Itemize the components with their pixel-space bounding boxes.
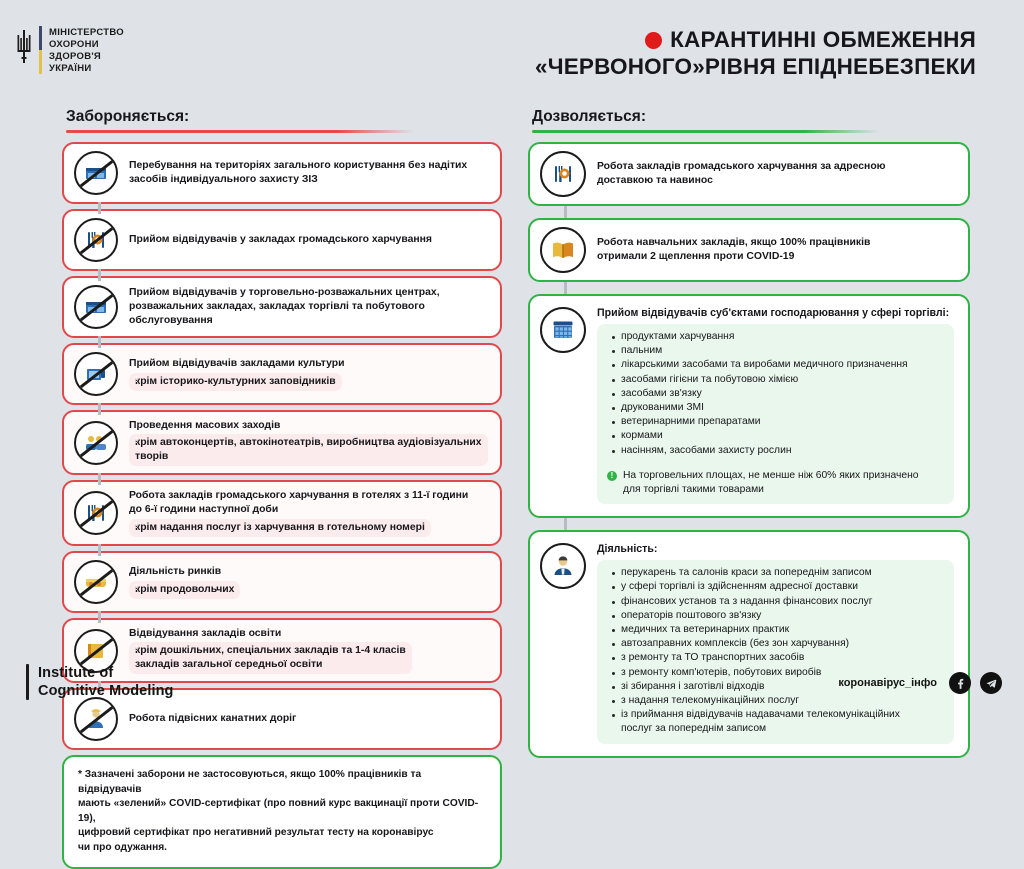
facebook-icon[interactable] — [949, 672, 971, 694]
restaurant-delivery-icon — [550, 161, 576, 187]
card-connector — [98, 544, 101, 556]
prohibition-card: Прийом відвідувачів закладами культурикр… — [62, 343, 502, 405]
icon-badge — [74, 352, 118, 396]
icon-badge — [74, 285, 118, 329]
logo-line-1: МІНІСТЕРСТВО — [49, 27, 124, 39]
exception-text: крім продовольчих — [135, 583, 234, 597]
card-connector — [98, 269, 101, 281]
title-line-2: «ЧЕРВОНОГО»РІВНЯ ЕПІДНЕБЕЗПЕКИ — [535, 53, 976, 80]
prohibition-card: Робота закладів громадського харчування … — [62, 480, 502, 546]
prohibition-text: Прийом відвідувачів у закладах громадськ… — [129, 233, 488, 247]
institute-bar — [26, 664, 29, 700]
info-text: На торговельних площах, не менше ніж 60%… — [623, 469, 919, 497]
logo-line-2: ОХОРОНИ — [49, 39, 124, 51]
icon-badge — [540, 151, 586, 197]
institute-logo: Institute of Cognitive Modeling — [26, 664, 174, 700]
logo-line-3: ЗДОРОВ'Я — [49, 51, 124, 63]
card-connector — [98, 611, 101, 623]
title-text-1: КАРАНТИННІ ОБМЕЖЕННЯ — [670, 27, 976, 52]
list-item: лікарськими засобами та виробами медично… — [621, 358, 944, 372]
prohibited-underline — [66, 130, 414, 133]
card-body: Перебування на територіях загального кор… — [129, 159, 488, 187]
exception-row: крім історико-культурних заповідників — [129, 373, 342, 391]
list-item: медичних та ветеринарних практик — [621, 623, 944, 637]
allowed-heading: Дозволяється: — [532, 108, 970, 126]
card-body: Робота закладів громадського харчування … — [597, 160, 956, 188]
allowed-card: Робота закладів громадського харчування … — [528, 142, 970, 206]
exception-text: крім надання послуг із харчування в готе… — [135, 521, 425, 535]
icon-badge — [540, 307, 586, 353]
card-body: Діяльність ринківкрім продовольчих — [129, 565, 488, 599]
logo-flag-bars — [39, 26, 42, 74]
icon-badge — [74, 491, 118, 535]
list-item: фінансових установ та з надання фінансов… — [621, 595, 944, 609]
exception-row: крім продовольчих — [129, 581, 240, 599]
prohibition-card: Прийом відвідувачів у закладах громадськ… — [62, 209, 502, 271]
prohibition-text: Робота закладів громадського харчування … — [129, 489, 488, 517]
allowed-lead: Прийом відвідувачів суб'єктами господарю… — [597, 306, 954, 320]
institute-name: Institute of Cognitive Modeling — [38, 664, 174, 700]
card-connector — [98, 473, 101, 485]
exception-text: крім історико-культурних заповідників — [135, 375, 336, 389]
ukraine-trident-icon — [16, 26, 32, 70]
card-connector — [564, 206, 567, 218]
list-item: у сфері торгівлі із здійсненням адресної… — [621, 580, 944, 594]
icon-badge — [540, 543, 586, 589]
prohibition-text: Проведення масових заходів — [129, 419, 488, 433]
list-item: операторів поштового зв'язку — [621, 609, 944, 623]
icon-badge — [74, 560, 118, 604]
list-item: ветеринарними препаратами — [621, 415, 944, 429]
list-item: засобами гігієни та побутовою хімією — [621, 373, 944, 387]
footnote-text: * Зазначені заборони не застосовуються, … — [78, 768, 486, 856]
prohibition-text: Перебування на територіях загального кор… — [129, 159, 488, 187]
list-item: перукарень та салонів краси за попередні… — [621, 566, 944, 580]
prohibited-column: Забороняється: Перебування на територіях… — [62, 108, 502, 869]
prohibition-card: Прийом відвідувачів у торговельно-розваж… — [62, 276, 502, 338]
icon-badge — [74, 218, 118, 262]
card-body: Робота навчальних закладів, якщо 100% пр… — [597, 236, 956, 264]
page-title: КАРАНТИННІ ОБМЕЖЕННЯ «ЧЕРВОНОГО»РІВНЯ ЕП… — [535, 26, 976, 80]
institute-line-1: Institute of — [38, 664, 174, 682]
list-item: засобами зв'язку — [621, 387, 944, 401]
card-connector — [98, 403, 101, 415]
prohibition-card: Діяльність ринківкрім продовольчих — [62, 551, 502, 613]
title-line-1: КАРАНТИННІ ОБМЕЖЕННЯ — [535, 26, 976, 53]
social-label: коронавірус_інфо — [838, 677, 937, 689]
prohibition-card: Проведення масових заходівкрім автоконце… — [62, 410, 502, 475]
allowed-card: Прийом відвідувачів суб'єктами господарю… — [528, 294, 970, 518]
card-body: Прийом відвідувачів суб'єктами господарю… — [597, 306, 954, 504]
card-body: Проведення масових заходівкрім автоконце… — [129, 419, 488, 466]
allowed-text: Робота навчальних закладів, якщо 100% пр… — [597, 236, 956, 264]
page-header: МІНІСТЕРСТВО ОХОРОНИ ЗДОРОВ'Я УКРАЇНИ КА… — [0, 0, 1024, 100]
exception-row: крім автоконцертів, автокінотеатрів, вир… — [129, 434, 488, 466]
allowed-underline — [532, 130, 880, 133]
icon-badge — [540, 227, 586, 273]
card-connector — [98, 202, 101, 214]
prohibition-text: Прийом відвідувачів у торговельно-розваж… — [129, 286, 488, 328]
institute-line-2: Cognitive Modeling — [38, 682, 174, 700]
prohibition-text: Діяльність ринків — [129, 565, 488, 579]
list-item: продуктами харчування — [621, 330, 944, 344]
page-footer: Institute of Cognitive Modeling коронаві… — [0, 650, 1024, 724]
exception-row: крім надання послуг із харчування в готе… — [129, 519, 431, 537]
red-circle-icon — [645, 32, 662, 49]
social-links: коронавірус_інфо — [838, 672, 1002, 694]
card-body: Робота закладів громадського харчування … — [129, 489, 488, 537]
prohibition-card: Перебування на територіях загального кор… — [62, 142, 502, 204]
card-body: Прийом відвідувачів закладами культурикр… — [129, 357, 488, 391]
list-item: друкованими ЗМІ — [621, 401, 944, 415]
infographic-page: МІНІСТЕРСТВО ОХОРОНИ ЗДОРОВ'Я УКРАЇНИ КА… — [0, 0, 1024, 724]
exception-text: крім автоконцертів, автокінотеатрів, вир… — [135, 436, 482, 464]
list-item: насінням, засобами захисту рослин — [621, 444, 944, 458]
worker-person-icon — [550, 553, 576, 579]
allowed-lead: Діяльність: — [597, 542, 954, 556]
logo-line-4: УКРАЇНИ — [49, 63, 124, 75]
card-body: Прийом відвідувачів у закладах громадськ… — [129, 233, 488, 247]
info-row: На торговельних площах, не менше ніж 60%… — [607, 469, 944, 497]
prohibition-text: Прийом відвідувачів закладами культури — [129, 357, 488, 371]
store-front-icon — [550, 317, 576, 343]
prohibition-text: Відвідування закладів освіти — [129, 627, 488, 641]
open-book-icon — [550, 237, 576, 263]
allowed-detail-box: продуктами харчуванняпальнимлікарськими … — [597, 324, 954, 504]
icon-badge — [74, 151, 118, 195]
allowed-bullet-list: продуктами харчуванняпальнимлікарськими … — [607, 330, 944, 458]
card-connector — [564, 282, 567, 294]
footnote-card: * Зазначені заборони не застосовуються, … — [62, 755, 502, 869]
ministry-logo: МІНІСТЕРСТВО ОХОРОНИ ЗДОРОВ'Я УКРАЇНИ — [16, 26, 124, 75]
prohibited-heading: Забороняється: — [66, 108, 502, 126]
card-connector — [564, 518, 567, 530]
card-body: Прийом відвідувачів у торговельно-розваж… — [129, 286, 488, 328]
info-exclamation-icon — [607, 471, 617, 481]
allowed-card: Робота навчальних закладів, якщо 100% пр… — [528, 218, 970, 282]
ministry-logo-text: МІНІСТЕРСТВО ОХОРОНИ ЗДОРОВ'Я УКРАЇНИ — [49, 26, 124, 75]
allowed-text: Робота закладів громадського харчування … — [597, 160, 956, 188]
list-item: пальним — [621, 344, 944, 358]
list-item: кормами — [621, 429, 944, 443]
telegram-icon[interactable] — [980, 672, 1002, 694]
card-connector — [98, 336, 101, 348]
icon-badge — [74, 421, 118, 465]
